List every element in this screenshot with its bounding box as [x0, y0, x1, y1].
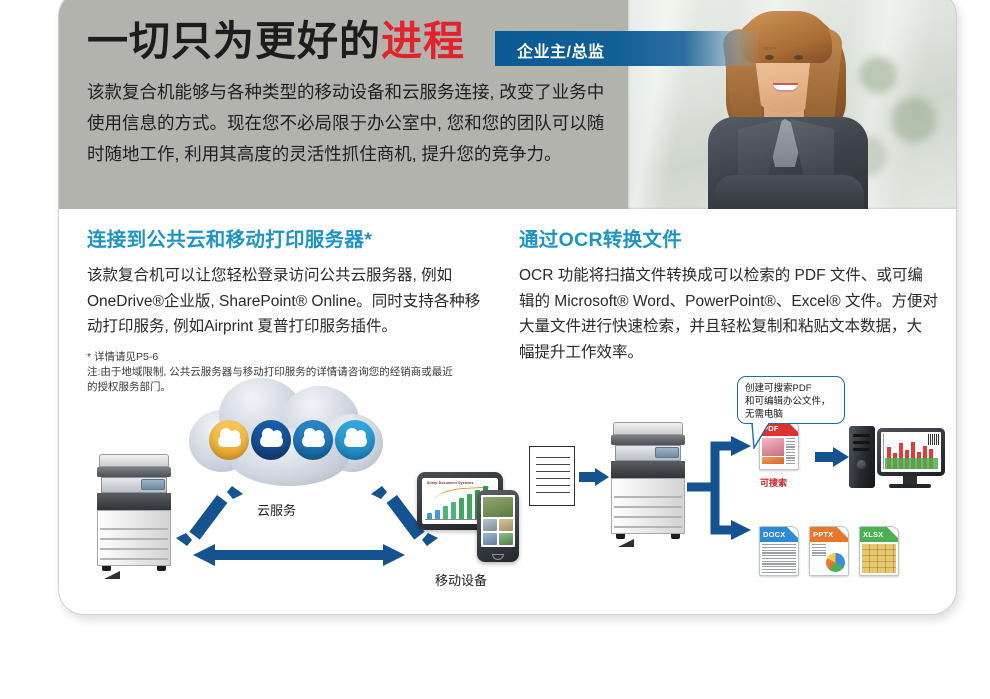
cloud-glyph — [302, 434, 325, 447]
tablet-chart-title: Sharp Document Systems — [427, 481, 473, 485]
printer-scanner-lid — [611, 435, 685, 445]
callout-tail — [751, 423, 773, 447]
pptx-pie-chart — [826, 553, 845, 572]
printer-drawer-4 — [614, 526, 682, 528]
printer-drawer-3 — [100, 548, 168, 550]
right-body-line-1: OCR 功能将扫描文件转换成可以检索的 PDF 文件、或可编 — [519, 263, 949, 289]
file-preview-docx — [760, 542, 798, 575]
callout-line-1: 创建可搜索PDF — [745, 382, 837, 395]
lead-line-3: 时随地工作, 利用其高度的灵活性抓住商机, 提升您的竞争力。 — [87, 139, 657, 170]
printer-drawer-2 — [100, 538, 168, 540]
eyebrow-right — [792, 47, 805, 50]
screen-chart-axis — [883, 434, 884, 469]
header-lead-paragraph: 该款复合机能够与各种类型的移动设备和云服务连接, 改变了业务中 使用信息的方式。… — [87, 77, 657, 170]
tablet-bar — [427, 513, 432, 519]
printer-logo — [104, 571, 120, 579]
printer-drawer-3 — [614, 516, 682, 518]
doc-line — [536, 478, 570, 479]
eye-left — [765, 55, 774, 60]
monitor-stand — [903, 476, 917, 484]
paper-document — [529, 446, 575, 506]
file-preview-pptx — [810, 542, 848, 575]
crossed-arms — [714, 175, 864, 209]
printer-logo — [618, 539, 634, 547]
file-icon-xlsx: XLSX — [859, 526, 899, 576]
desktop-computer — [849, 422, 945, 492]
screen-qr-code — [928, 434, 939, 445]
right-body-line-3: 大量文件进行快速检索，并且轻松复制和粘贴文本数据，大 — [519, 314, 949, 340]
phone-photo-thumb — [499, 533, 513, 545]
doc-line — [536, 464, 570, 465]
cloud-services-graphic — [185, 374, 385, 494]
pptx-text-lines — [812, 544, 826, 556]
page-title-accent: 进程 — [381, 18, 465, 64]
cloud-glyph — [218, 434, 241, 447]
computer-monitor — [877, 428, 945, 476]
page-title: 一切只为更好的进程 — [87, 7, 465, 67]
ocr-callout-bubble: 创建可搜索PDF 和可编辑办公文件， 无需电脑 — [737, 376, 845, 424]
right-column: 通过OCR转换文件 OCR 功能将扫描文件转换成可以检索的 PDF 文件、或可编… — [519, 209, 949, 365]
right-section-heading: 通过OCR转换文件 — [519, 223, 949, 252]
eye-right — [794, 55, 803, 60]
printer-foot-left — [102, 566, 111, 571]
phone-photo-thumb — [499, 519, 513, 531]
printer-drawer-2 — [614, 506, 682, 508]
printer-foot-right — [671, 534, 680, 539]
file-preview-xlsx — [860, 542, 898, 575]
printer-scanner-lid — [97, 467, 171, 477]
multifunction-printer — [611, 422, 685, 540]
left-section-heading: 连接到公共云和移动打印服务器* — [87, 223, 517, 252]
left-column: 连接到公共云和移动打印服务器* 该款复合机可以让您轻松登录访问公共云服务器, 例… — [87, 209, 517, 395]
printer-foot-right — [157, 566, 166, 571]
xlsx-grid — [862, 544, 896, 573]
monitor-screen — [881, 432, 941, 472]
ocr-workflow-diagram: PDF 可搜索 DOCX — [519, 374, 957, 599]
tower-drive-slot — [853, 448, 870, 451]
cloud-service-icon-3 — [293, 420, 333, 460]
tablet-bar — [467, 494, 472, 519]
left-body-line-3: 动打印服务, 例如Airprint 夏普打印服务插件。 — [87, 314, 517, 340]
tablet-bar — [459, 498, 464, 519]
mobile-devices-label: 移动设备 — [435, 570, 487, 589]
right-body-line-4: 幅提升工作效率。 — [519, 340, 949, 366]
arrow-printer-to-cloud — [175, 484, 245, 548]
doc-line — [536, 485, 570, 486]
doc-line — [536, 471, 570, 472]
tower-drive-slot — [853, 441, 870, 444]
lead-line-1: 该款复合机能够与各种类型的移动设备和云服务连接, 改变了业务中 — [87, 77, 657, 108]
pdf-thumb-image — [762, 457, 784, 464]
left-section-body: 该款复合机可以让您轻松登录访问公共云服务器, 例如 OneDrive®企业版, … — [87, 263, 517, 340]
brochure-page: 一切只为更好的进程 企业主/总监 该款复合机能够与各种类型的移动设备和云服务连接… — [58, 0, 957, 615]
tablet-bar — [443, 506, 448, 519]
smartphone-device — [477, 490, 519, 562]
printer-drawer-1 — [614, 496, 682, 498]
cloud-service-icon-4 — [335, 420, 375, 460]
phone-home-button[interactable] — [492, 554, 504, 560]
header-band: 一切只为更好的进程 企业主/总监 该款复合机能够与各种类型的移动设备和云服务连接… — [59, 0, 957, 209]
printer-output-tray — [611, 461, 685, 478]
phone-photo-thumb — [483, 497, 513, 517]
right-body-line-2: 辑的 Microsoft® Word、PowerPoint®、Excel® 文件… — [519, 289, 949, 315]
searchable-label: 可搜索 — [760, 476, 787, 489]
right-section-body: OCR 功能将扫描文件转换成可以检索的 PDF 文件、或可编 辑的 Micros… — [519, 263, 949, 365]
arrow-doc-to-printer — [579, 467, 609, 487]
eyebrow-left — [763, 47, 776, 50]
left-body-line-2: OneDrive®企业版, SharePoint® Online。同时支持各种移 — [87, 289, 517, 315]
audience-badge: 企业主/总监 — [495, 31, 759, 66]
branching-connector — [687, 432, 751, 547]
cloud-glyph — [260, 434, 283, 447]
left-body-line-1: 该款复合机可以让您轻松登录访问公共云服务器, 例如 — [87, 263, 517, 289]
tablet-bar — [451, 502, 456, 519]
tablet-bar — [435, 510, 440, 519]
audience-badge-label: 企业主/总监 — [517, 38, 604, 62]
callout-line-3: 无需电脑 — [745, 408, 837, 421]
content-area: 连接到公共云和移动打印服务器* 该款复合机可以让您轻松登录访问公共云服务器, 例… — [59, 209, 957, 615]
pdf-text-lines — [786, 438, 795, 466]
tower-power-button[interactable] — [857, 460, 866, 469]
arrow-printer-to-device — [193, 542, 405, 568]
cloud-service-icon-2 — [251, 420, 291, 460]
phone-photo-thumb — [483, 533, 497, 545]
screen-chart-band — [885, 458, 938, 469]
tower-drive-slot — [853, 434, 870, 437]
cloud-glyph — [344, 434, 367, 447]
file-icon-docx: DOCX — [759, 526, 799, 576]
doc-line — [536, 492, 570, 493]
phone-photo-thumb — [483, 519, 497, 531]
printer-control-panel — [141, 479, 165, 490]
smartphone-screen — [481, 495, 515, 547]
monitor-base — [889, 484, 931, 488]
callout-line-2: 和可编辑办公文件， — [745, 395, 837, 408]
cloud-connectivity-diagram: 云服务 移动设备 Sharp Document Systems — [97, 374, 527, 599]
computer-tower — [849, 426, 875, 488]
printer-control-panel — [655, 447, 679, 458]
printer-drawer-4 — [100, 558, 168, 560]
cloud-service-icon-1 — [209, 420, 249, 460]
doc-line — [536, 457, 570, 458]
page-title-plain: 一切只为更好的 — [87, 18, 381, 64]
printer-output-tray — [97, 493, 171, 510]
cloud-services-label: 云服务 — [257, 500, 296, 519]
file-icon-pptx: PPTX — [809, 526, 849, 576]
multifunction-printer — [97, 454, 171, 572]
arrow-files-to-computer — [815, 446, 849, 468]
printer-foot-left — [616, 534, 625, 539]
printer-feeder — [613, 422, 683, 435]
printer-drawer-1 — [100, 528, 168, 530]
lead-line-2: 使用信息的方式。现在您不必局限于办公室中, 您和您的团队可以随 — [87, 108, 657, 139]
footnote-reference: * 详情请见P5-6 — [87, 350, 517, 365]
printer-feeder — [99, 454, 169, 467]
